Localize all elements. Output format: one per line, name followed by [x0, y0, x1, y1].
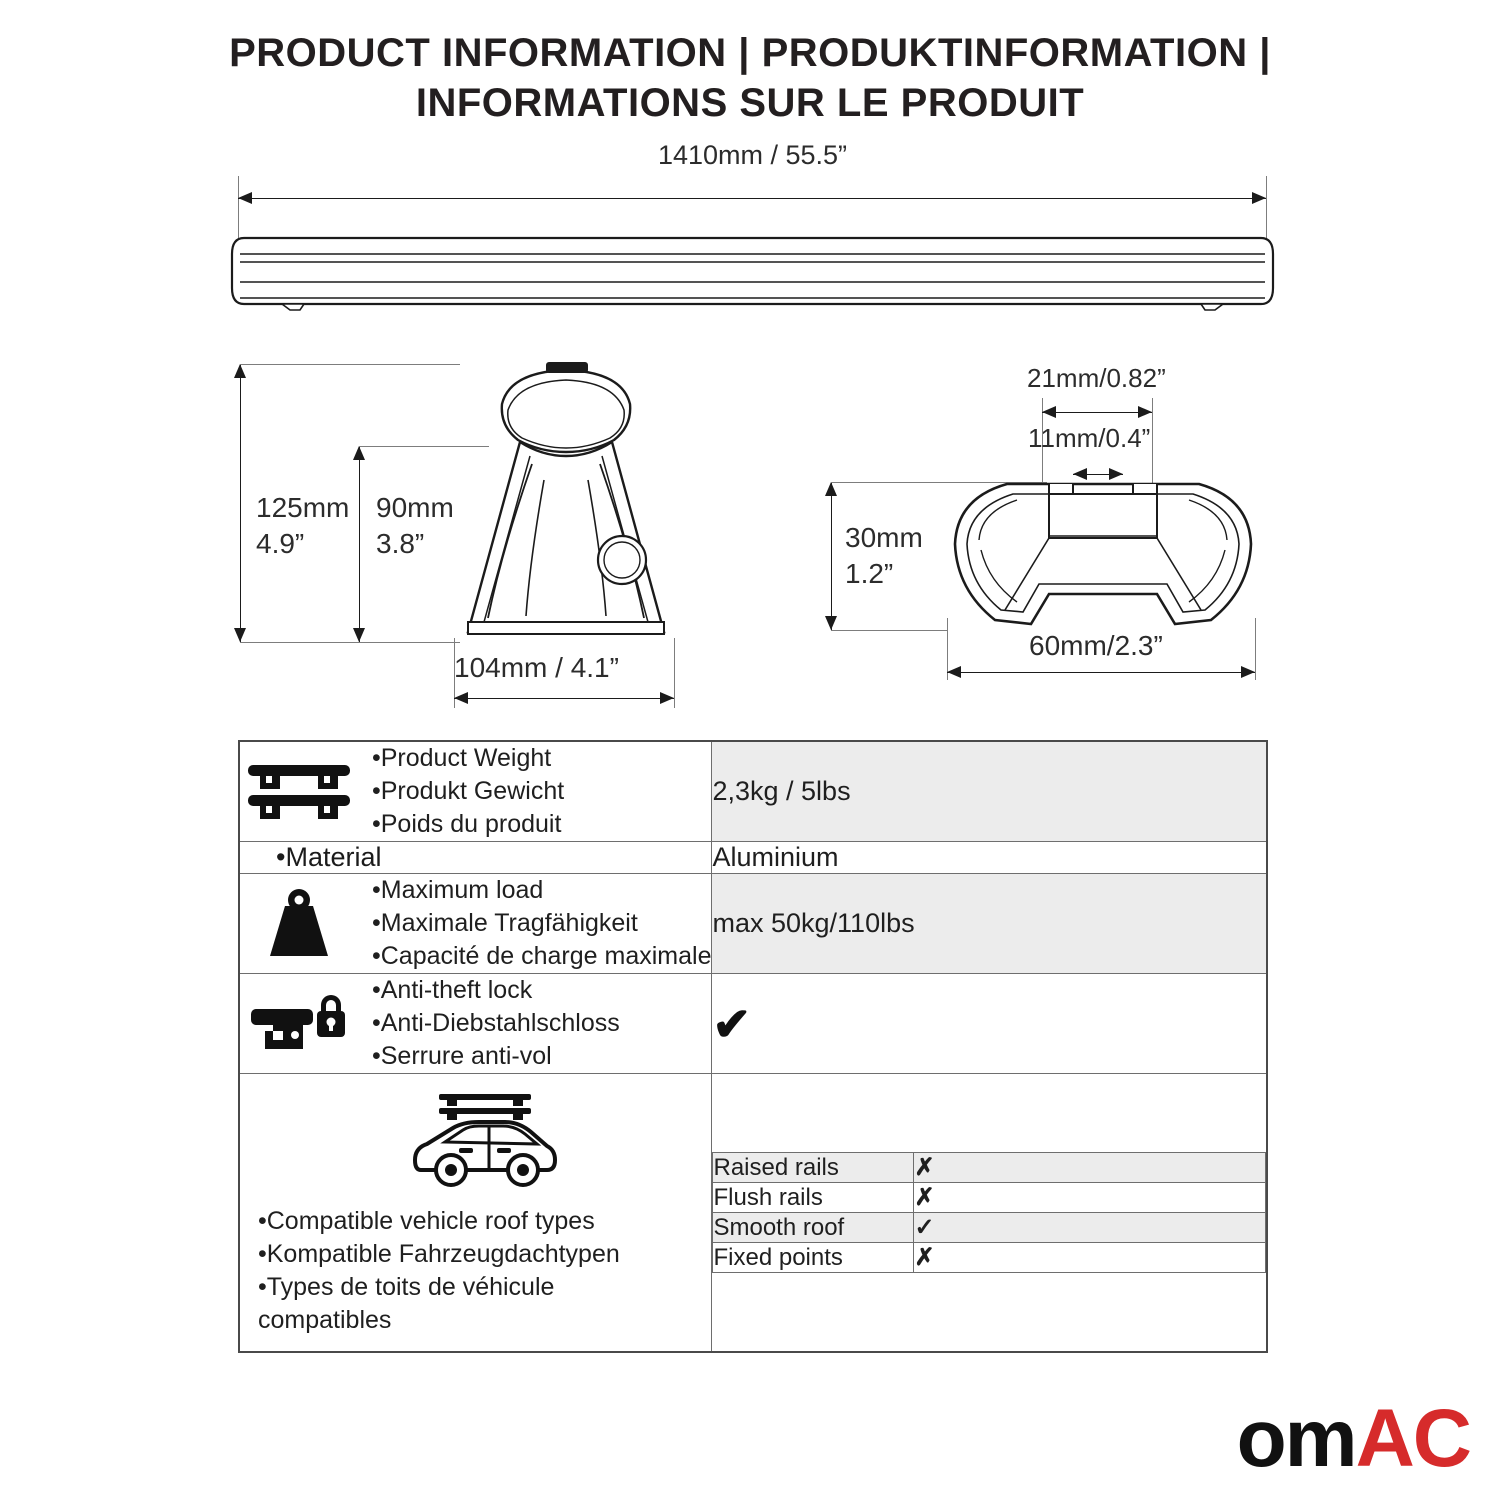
logo-text-dark: om — [1237, 1398, 1356, 1480]
roof-type-row-fixed-points: Fixed points ✗ — [713, 1243, 1266, 1273]
roof-type-name: Flush rails — [713, 1183, 914, 1213]
profile-height-label: 30mm 1.2” — [845, 520, 923, 592]
spec-label-line: •Anti-Diebstahlschloss — [372, 1007, 620, 1040]
table-row-anti-theft-lock: •Anti-theft lock •Anti-Diebstahlschloss … — [239, 974, 1267, 1074]
rail-length-drawing: 1410mm / 55.5” — [230, 140, 1275, 315]
slot-inner-width-label: 11mm/0.4” — [1028, 420, 1150, 456]
roof-compat-line: •Types de toits de véhicule — [258, 1271, 620, 1304]
rail-extension-line-right — [1266, 176, 1267, 238]
foot-total-height-in: 4.9” — [256, 528, 304, 559]
roof-type-row-smooth-roof: Smooth roof ✓ — [713, 1213, 1266, 1243]
foot-width-ext-right — [674, 638, 675, 708]
rail-extension-line-left — [238, 176, 239, 238]
bar-profile-shape — [943, 478, 1263, 638]
roof-types-cell: Raised rails ✗ Flush rails ✗ Smooth roof… — [712, 1074, 1267, 1353]
spec-label-cell: •Material — [239, 842, 712, 874]
rail-length-dimension-label: 1410mm / 55.5” — [230, 140, 1275, 171]
spec-label-line: •Maximum load — [372, 874, 711, 907]
foot-inner-height-arrow — [359, 446, 360, 642]
profile-height-mm: 30mm — [845, 522, 923, 553]
roof-type-name: Raised rails — [713, 1153, 914, 1183]
table-row-product-weight: •Product Weight •Produkt Gewicht •Poids … — [239, 741, 1267, 842]
profile-width-arrow — [947, 672, 1255, 673]
table-row-roof-compatibility: •Compatible vehicle roof types •Kompatib… — [239, 1074, 1267, 1353]
roof-compat-line: •Compatible vehicle roof types — [258, 1205, 620, 1238]
logo-text-red: AC — [1356, 1398, 1470, 1480]
slot-outer-ext-right — [1152, 398, 1153, 486]
bar-cross-section-drawing: 21mm/0.82” 11mm/0.4” 30mm 1.2” 60mm/2.3” — [815, 360, 1285, 700]
roof-type-mark-cross-icon: ✗ — [914, 1243, 1266, 1273]
roof-type-name: Smooth roof — [713, 1213, 914, 1243]
spec-label-text: •Maximum load •Maximale Tragfähigkeit •C… — [372, 874, 711, 973]
roof-compat-line: compatibles — [258, 1304, 620, 1337]
spec-label-line: •Produkt Gewicht — [372, 775, 564, 808]
foot-inner-height-mm: 90mm — [376, 492, 454, 523]
omac-logo: om AC — [1237, 1398, 1470, 1480]
foot-total-height-ext-top — [240, 364, 460, 365]
roof-compatibility-text: •Compatible vehicle roof types •Kompatib… — [258, 1205, 620, 1337]
rail-length-dimension-arrow — [238, 198, 1266, 199]
lock-icon — [240, 991, 358, 1057]
foot-total-height-ext-bottom — [240, 642, 460, 643]
roof-types-table: Raised rails ✗ Flush rails ✗ Smooth roof… — [712, 1152, 1266, 1273]
roof-type-mark-check-icon: ✓ — [914, 1213, 1266, 1243]
roof-type-name: Fixed points — [713, 1243, 914, 1273]
spec-label-cell: •Anti-theft lock •Anti-Diebstahlschloss … — [239, 974, 712, 1074]
product-spec-table: •Product Weight •Produkt Gewicht •Poids … — [238, 740, 1268, 1353]
spec-label-text: •Product Weight •Produkt Gewicht •Poids … — [372, 742, 564, 841]
page-title-line-2: INFORMATIONS SUR LE PRODUIT — [0, 78, 1500, 128]
spec-value-maximum-load: max 50kg/110lbs — [712, 874, 1267, 974]
car-with-rack-icon — [405, 1086, 565, 1199]
mount-foot-drawing: 125mm 4.9” 90mm 3.8” 104mm / 4.1” — [228, 350, 728, 710]
spec-label-cell: •Product Weight •Produkt Gewicht •Poids … — [239, 741, 712, 842]
page-title-line-1: PRODUCT INFORMATION | PRODUKTINFORMATION… — [0, 28, 1500, 78]
crossbars-icon — [240, 761, 358, 823]
spec-value-product-weight: 2,3kg / 5lbs — [712, 741, 1267, 842]
roof-type-row-raised-rails: Raised rails ✗ — [713, 1153, 1266, 1183]
spec-label-line: •Maximale Tragfähigkeit — [372, 907, 711, 940]
spec-label-line: •Anti-theft lock — [372, 974, 620, 1007]
profile-height-ext-bottom — [831, 630, 947, 631]
roof-type-mark-cross-icon: ✗ — [914, 1153, 1266, 1183]
profile-width-label: 60mm/2.3” — [1029, 628, 1163, 664]
mount-foot-shape — [446, 360, 686, 660]
spec-value-anti-theft-lock: ✔ — [712, 974, 1267, 1074]
foot-total-height-label: 125mm 4.9” — [256, 490, 349, 562]
spec-label-line: •Poids du produit — [372, 808, 564, 841]
foot-width-label: 104mm / 4.1” — [454, 650, 619, 686]
spec-label-material: •Material — [240, 842, 711, 873]
page-title: PRODUCT INFORMATION | PRODUKTINFORMATION… — [0, 28, 1500, 128]
roof-bar-side-view — [230, 232, 1275, 312]
spec-value-material: Aluminium — [712, 842, 1267, 874]
profile-width-ext-right — [1255, 618, 1256, 680]
spec-label-text: •Anti-theft lock •Anti-Diebstahlschloss … — [372, 974, 620, 1073]
roof-type-row-flush-rails: Flush rails ✗ — [713, 1183, 1266, 1213]
roof-compatibility-label-cell: •Compatible vehicle roof types •Kompatib… — [239, 1074, 712, 1353]
foot-inner-height-in: 3.8” — [376, 528, 424, 559]
spec-label-line: •Product Weight — [372, 742, 564, 775]
foot-inner-height-label: 90mm 3.8” — [376, 490, 454, 562]
spec-label-cell: •Maximum load •Maximale Tragfähigkeit •C… — [239, 874, 712, 974]
roof-type-mark-cross-icon: ✗ — [914, 1183, 1266, 1213]
spec-label-line: •Capacité de charge maximale — [372, 940, 711, 973]
table-row-material: •Material Aluminium — [239, 842, 1267, 874]
checkmark-icon: ✔ — [712, 998, 751, 1050]
foot-total-height-mm: 125mm — [256, 492, 349, 523]
roof-compat-line: •Kompatible Fahrzeugdachtypen — [258, 1238, 620, 1271]
foot-total-height-arrow — [240, 364, 241, 642]
foot-width-arrow — [454, 698, 674, 699]
spec-label-line: •Serrure anti-vol — [372, 1040, 620, 1073]
slot-outer-width-arrow — [1042, 412, 1152, 413]
slot-outer-width-label: 21mm/0.82” — [1027, 360, 1166, 396]
profile-height-in: 1.2” — [845, 558, 893, 589]
weight-icon — [240, 888, 358, 960]
slot-inner-width-arrow — [1073, 474, 1123, 475]
profile-height-arrow — [831, 482, 832, 630]
table-row-maximum-load: •Maximum load •Maximale Tragfähigkeit •C… — [239, 874, 1267, 974]
